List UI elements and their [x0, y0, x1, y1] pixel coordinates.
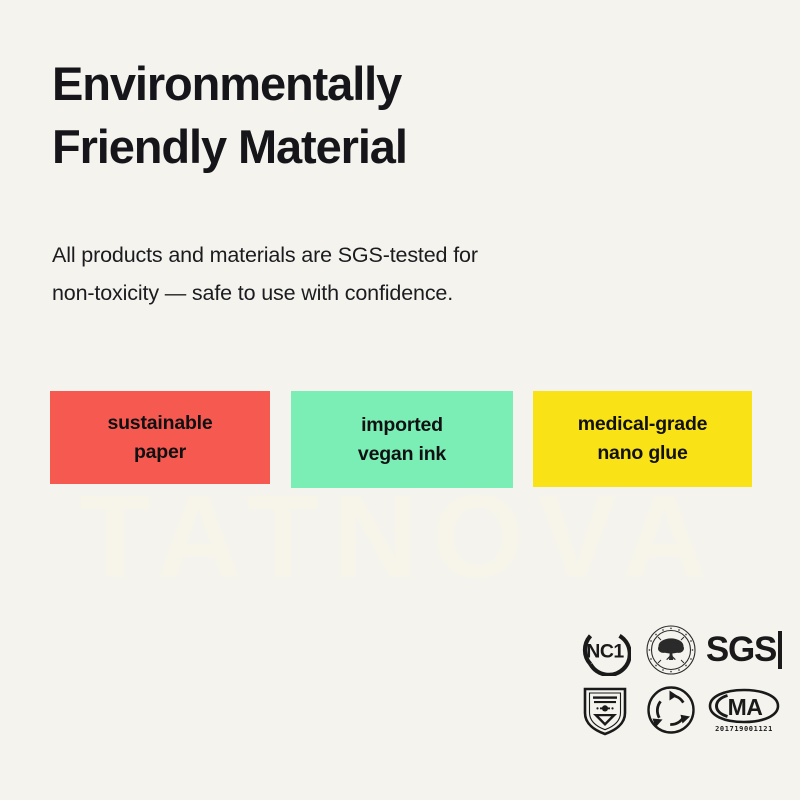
svg-text:NC1: NC1	[586, 641, 624, 663]
poster-canvas: TATNOVA Environmentally Friendly Materia…	[0, 0, 800, 800]
cma-certification-icon: MA 201719001121	[707, 688, 781, 733]
page-title: Environmentally Friendly Material	[52, 52, 712, 178]
nc1-certification-icon: NC1	[579, 624, 631, 676]
sgs-wordmark-text: SGS	[706, 630, 776, 670]
material-tag-label-line-2: paper	[134, 438, 186, 467]
sgs-bar-accent	[778, 631, 782, 669]
cma-certificate-number: 201719001121	[715, 725, 773, 733]
recycle-certification-icon	[646, 685, 696, 735]
material-tag-row: sustainable paper imported vegan ink med…	[50, 391, 755, 489]
page-title-line-2: Friendly Material	[52, 115, 712, 178]
certification-badge-group: NC1	[572, 620, 784, 746]
svg-text:MA: MA	[728, 694, 763, 720]
material-tag-label-line-1: medical-grade	[578, 410, 708, 439]
page-subtitle-line-2: non-toxicity — safe to use with confiden…	[52, 274, 652, 312]
material-tag-label-line-1: imported	[361, 411, 443, 440]
material-tag-label-line-2: nano glue	[597, 439, 687, 468]
quality-shield-certification-icon	[581, 684, 629, 736]
sgs-certification-logo: SGS	[706, 628, 782, 672]
page-subtitle: All products and materials are SGS-teste…	[52, 236, 652, 312]
forest-seal-certification-icon	[645, 624, 697, 676]
material-tag-sustainable-paper: sustainable paper	[50, 391, 270, 484]
brand-watermark: TATNOVA	[0, 478, 800, 596]
material-tag-label-line-1: sustainable	[107, 409, 212, 438]
material-tag-imported-vegan-ink: imported vegan ink	[291, 391, 513, 488]
material-tag-label-line-2: vegan ink	[358, 440, 446, 469]
page-subtitle-line-1: All products and materials are SGS-teste…	[52, 236, 652, 274]
material-tag-medical-grade-nano-glue: medical-grade nano glue	[533, 391, 752, 487]
page-title-line-1: Environmentally	[52, 52, 712, 115]
